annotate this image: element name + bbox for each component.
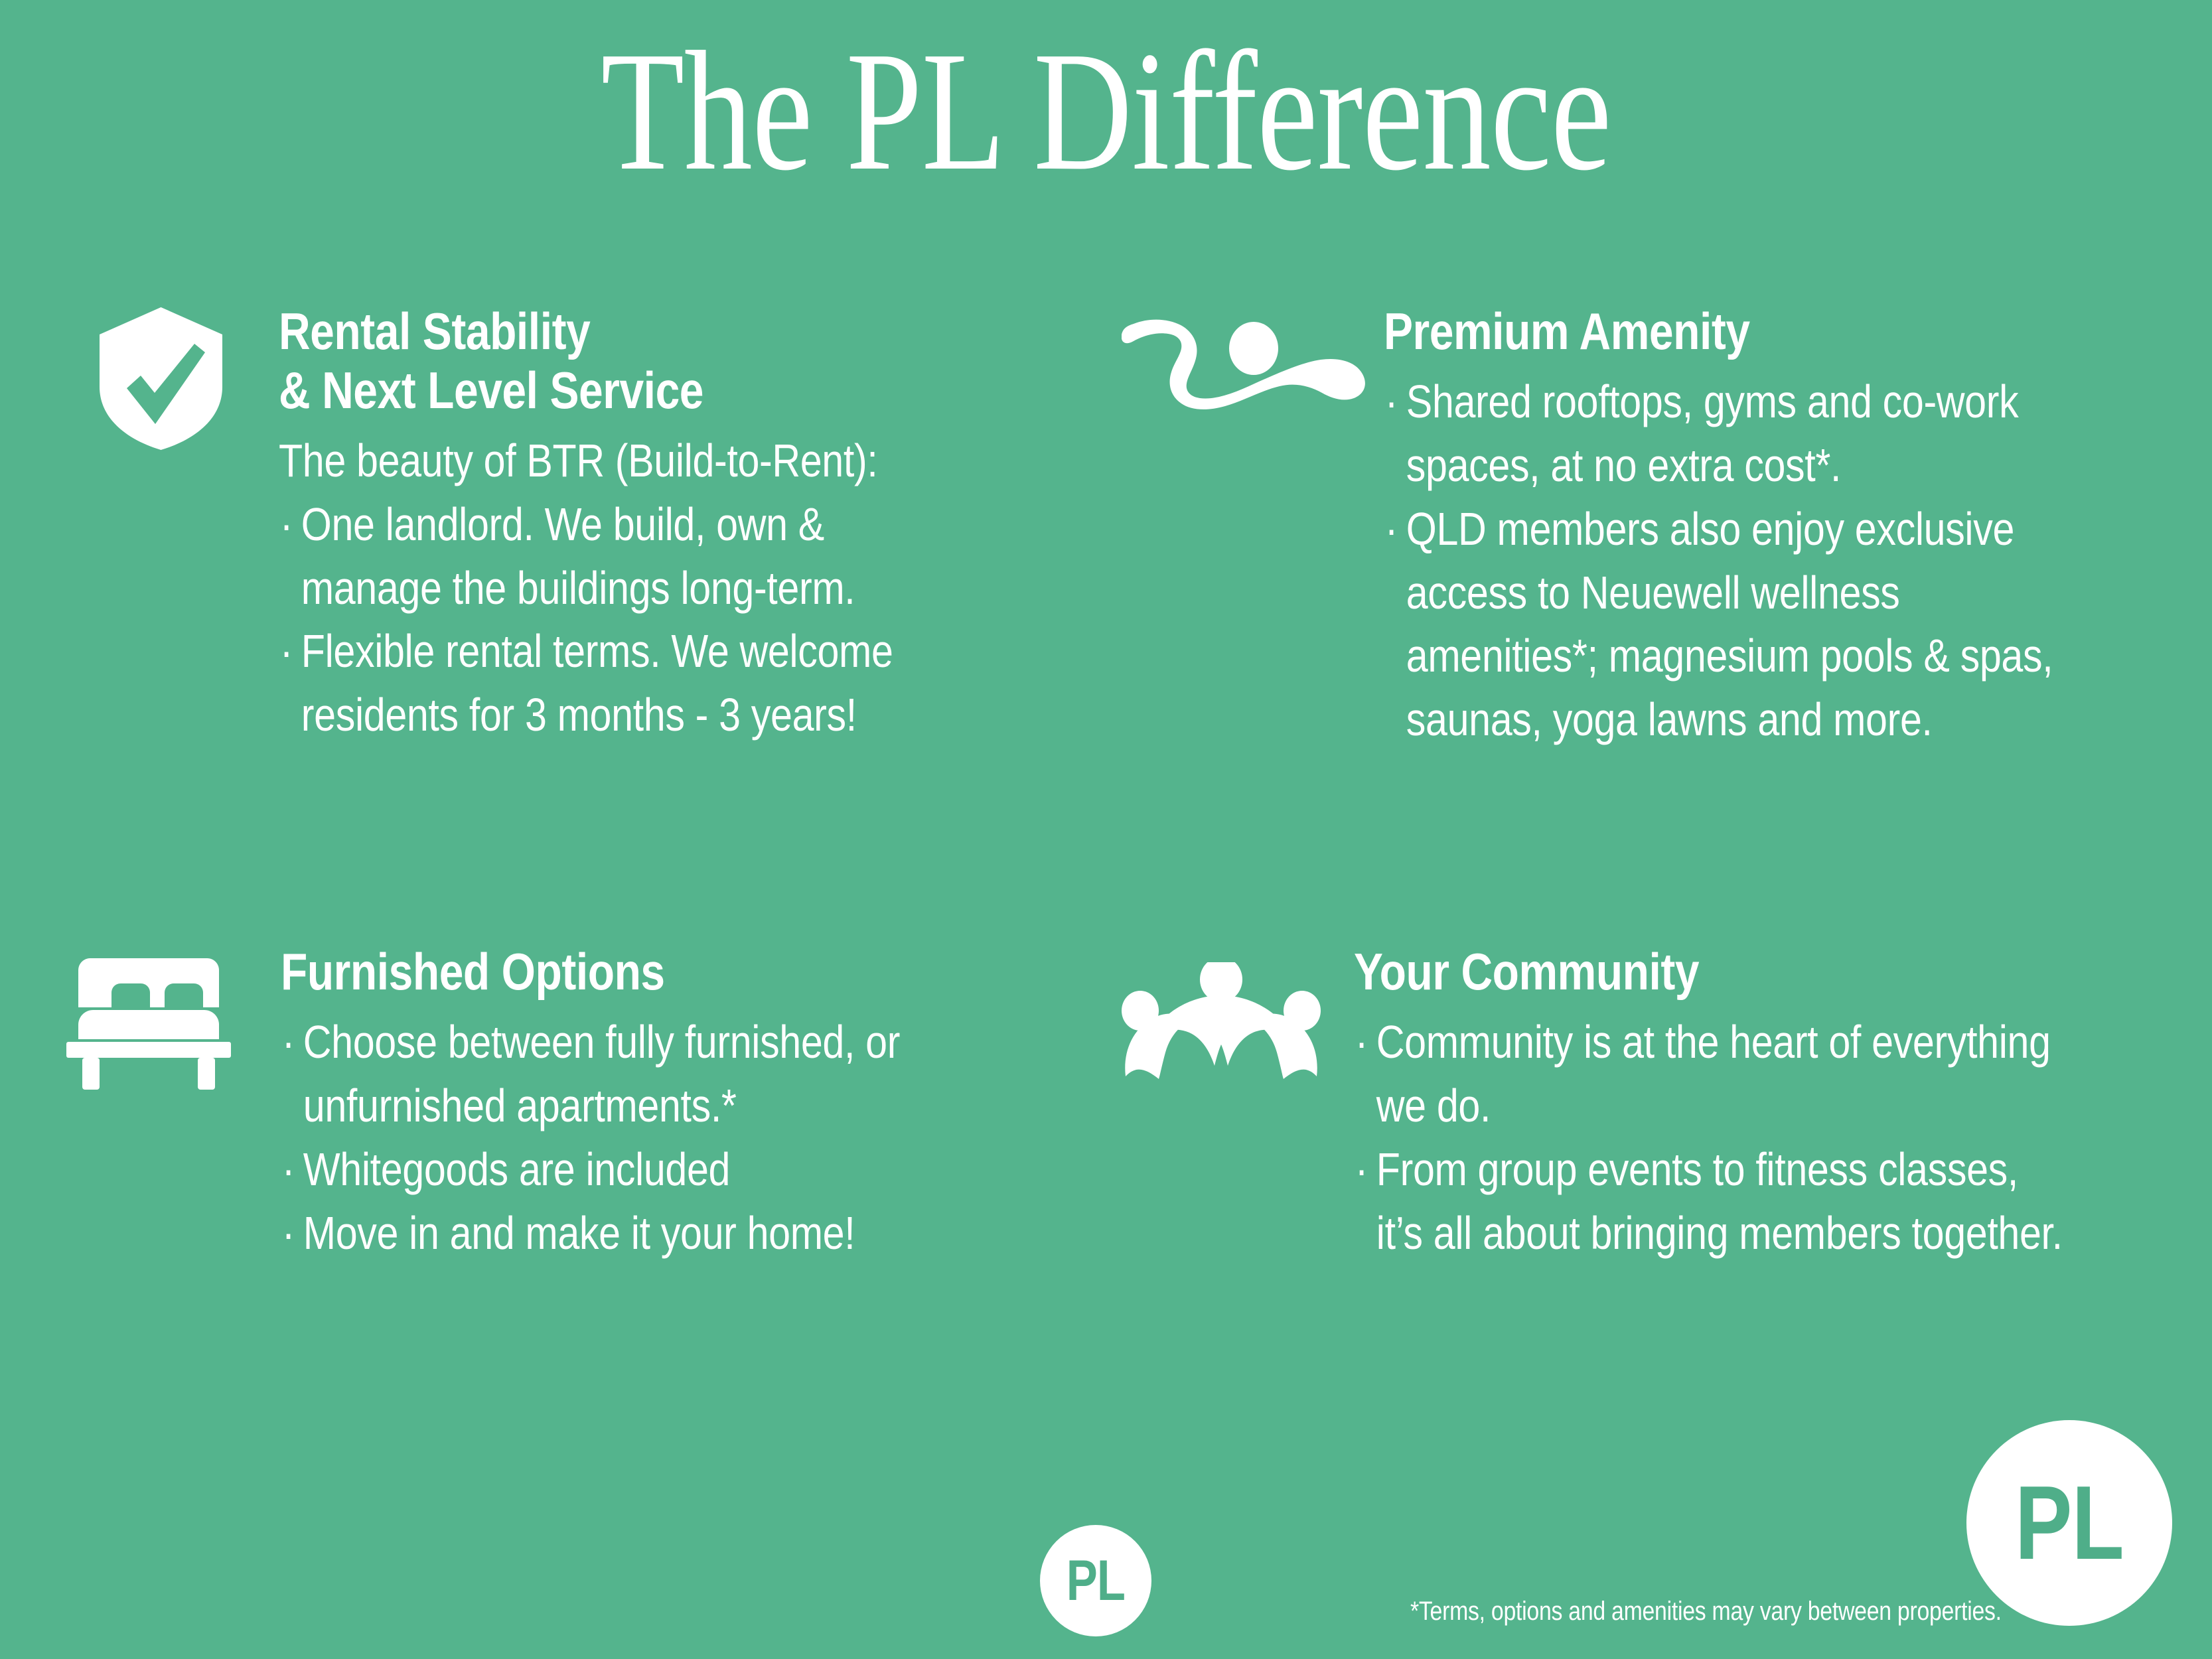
list-item: ·Community is at the heart of everything… xyxy=(1354,1011,2066,1138)
feature-grid: Rental Stability & Next Level Service Th… xyxy=(0,302,2212,1390)
list-item: ·Choose between fully furnished, or unfu… xyxy=(281,1011,963,1138)
feature-furnished-options: Furnished Options ·Choose between fully … xyxy=(66,942,1088,1265)
feature-rental-stability: Rental Stability & Next Level Service Th… xyxy=(100,302,1095,747)
pl-logo-large-text: PL xyxy=(2015,1471,2124,1575)
page-title: The PL Difference xyxy=(221,0,1990,198)
bullet-marker: · xyxy=(280,493,293,557)
feature-bullet-list: ·Shared rooftops, gyms and co-work space… xyxy=(1384,370,2071,752)
bullet-marker: · xyxy=(280,620,293,684)
feature-body: Premium Amenity ·Shared rooftops, gyms a… xyxy=(1384,302,2197,752)
list-item-text: Shared rooftops, gyms and co-work spaces… xyxy=(1406,376,2019,491)
list-item-text: One landlord. We build, own & manage the… xyxy=(301,498,855,614)
list-item: ·One landlord. We build, own & manage th… xyxy=(279,493,968,620)
feature-title: Your Community xyxy=(1354,942,2066,1001)
pl-logo-small-text: PL xyxy=(1067,1552,1125,1609)
list-item-text: From group events to fitness classes, it… xyxy=(1376,1143,2063,1259)
swimmer-icon xyxy=(1122,319,1370,415)
feature-premium-amenity: Premium Amenity ·Shared rooftops, gyms a… xyxy=(1122,302,2197,752)
bullet-marker: · xyxy=(1385,370,1398,434)
list-item-text: Move in and make it your home! xyxy=(303,1207,855,1259)
pl-logo-small: PL xyxy=(1040,1525,1151,1636)
list-item: ·QLD members also enjoy exclusive access… xyxy=(1384,498,2071,753)
list-item: ·Shared rooftops, gyms and co-work space… xyxy=(1384,370,2071,498)
feature-bullet-list: ·Community is at the heart of everything… xyxy=(1354,1011,2066,1265)
bullet-marker: · xyxy=(282,1202,295,1265)
bullet-marker: · xyxy=(282,1011,295,1074)
feature-title: Furnished Options xyxy=(281,942,963,1001)
feature-body: Your Community ·Community is at the hear… xyxy=(1354,942,2197,1265)
feature-body: Furnished Options ·Choose between fully … xyxy=(281,942,1088,1265)
list-item-text: QLD members also enjoy exclusive access … xyxy=(1406,503,2053,746)
list-item-text: Flexible rental terms. We welcome reside… xyxy=(301,625,893,741)
list-item: ·Flexible rental terms. We welcome resid… xyxy=(279,620,968,747)
feature-bullet-list: ·Choose between fully furnished, or unfu… xyxy=(281,1011,963,1265)
bullet-marker: · xyxy=(1385,498,1398,561)
community-people-icon xyxy=(1122,962,1321,1082)
pl-logo-large: PL xyxy=(1966,1420,2172,1626)
feature-lead: The beauty of BTR (Build-to-Rent): xyxy=(279,429,968,493)
footnote-disclaimer: *Terms, options and amenities may vary b… xyxy=(1410,1595,2002,1627)
bed-icon xyxy=(66,956,231,1092)
list-item-text: Choose between fully furnished, or unfur… xyxy=(303,1016,900,1131)
shield-check-icon xyxy=(100,307,222,450)
list-item: ·Whitegoods are included xyxy=(281,1138,963,1202)
list-item-text: Community is at the heart of everything … xyxy=(1376,1016,2051,1131)
feature-your-community: Your Community ·Community is at the hear… xyxy=(1122,942,2197,1265)
bullet-marker: · xyxy=(1355,1138,1368,1202)
feature-title: Rental Stability & Next Level Service xyxy=(279,302,968,420)
list-item: ·Move in and make it your home! xyxy=(281,1202,963,1265)
feature-title: Premium Amenity xyxy=(1384,302,2071,361)
bullet-marker: · xyxy=(282,1138,295,1202)
feature-body: Rental Stability & Next Level Service Th… xyxy=(279,302,1095,747)
list-item: ·From group events to fitness classes, i… xyxy=(1354,1138,2066,1265)
feature-bullet-list: ·One landlord. We build, own & manage th… xyxy=(279,493,968,748)
list-item-text: Whitegoods are included xyxy=(303,1143,730,1195)
bullet-marker: · xyxy=(1355,1011,1368,1074)
